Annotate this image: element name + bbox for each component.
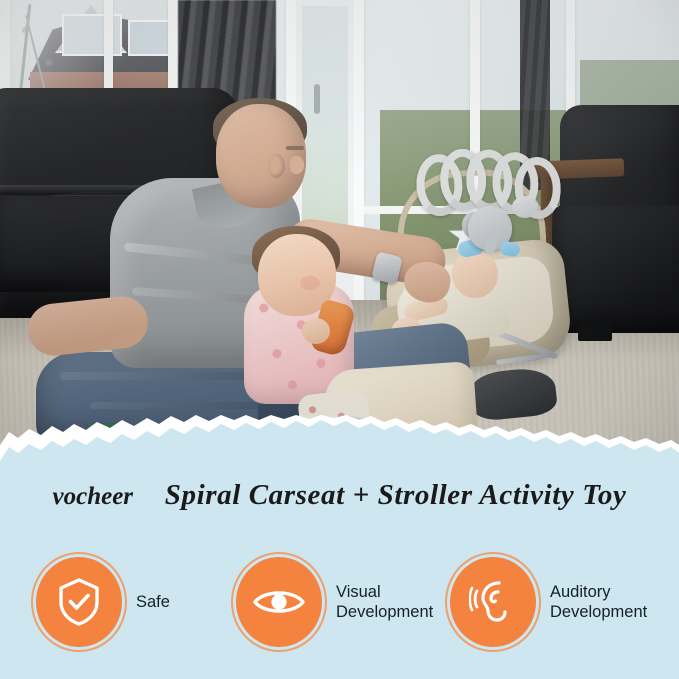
feature-label-visual: Visual Development bbox=[336, 582, 433, 622]
feature-icon-circle-auditory bbox=[450, 557, 536, 647]
door-handle bbox=[314, 84, 320, 114]
leather-ottoman-right bbox=[552, 205, 679, 333]
shield-check-icon bbox=[56, 577, 102, 627]
sofa-foot bbox=[578, 325, 612, 341]
hanging-ball-toy bbox=[512, 196, 538, 218]
banner-title: vocheer Spiral Carseat + Stroller Activi… bbox=[0, 479, 679, 512]
feature-label-auditory: Auditory Development bbox=[550, 582, 647, 622]
torn-paper-divider bbox=[0, 415, 679, 485]
toddler-cheek bbox=[300, 276, 320, 290]
toddler-hand bbox=[302, 318, 330, 344]
father-eyebrow bbox=[286, 146, 304, 150]
feature-icon-circle-visual bbox=[236, 557, 322, 647]
feature-item-safe[interactable]: Safe bbox=[36, 557, 170, 647]
product-title: Spiral Carseat + Stroller Activity Toy bbox=[165, 479, 627, 511]
ear-sound-icon bbox=[469, 577, 517, 627]
eye-icon bbox=[252, 585, 306, 619]
feature-label-safe: Safe bbox=[136, 592, 170, 612]
feature-item-auditory[interactable]: Auditory Development bbox=[450, 557, 647, 647]
feature-item-visual[interactable]: Visual Development bbox=[236, 557, 433, 647]
feature-icon-circle-safe bbox=[36, 557, 122, 647]
father-ear bbox=[268, 154, 285, 178]
lifestyle-photo bbox=[0, 0, 679, 470]
feature-list: Safe Visual Development Auditory Dev bbox=[0, 552, 679, 652]
father-nose bbox=[290, 156, 304, 174]
product-infographic: vocheer Spiral Carseat + Stroller Activi… bbox=[0, 0, 679, 679]
brand-name: vocheer bbox=[53, 483, 134, 510]
